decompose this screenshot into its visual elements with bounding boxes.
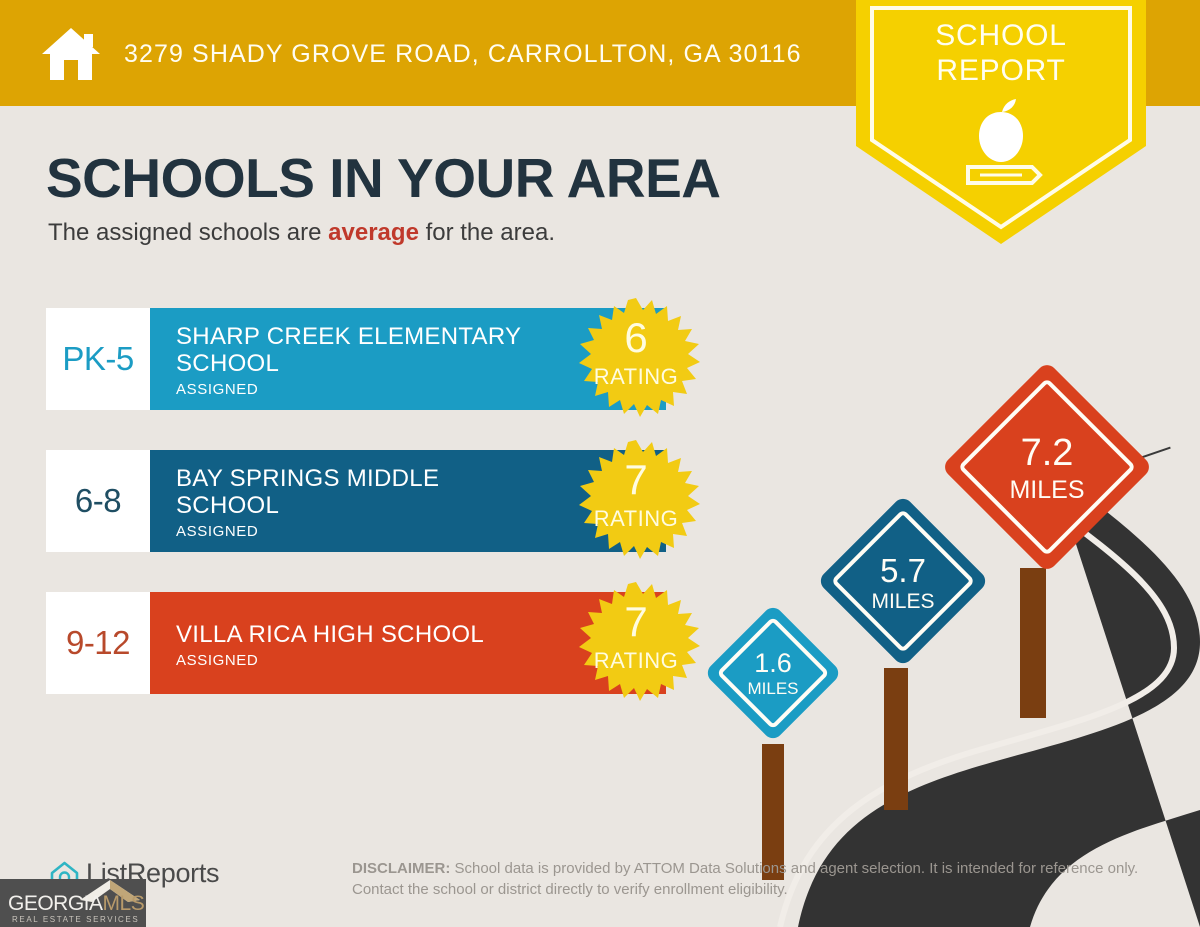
disclaimer-label: DISCLAIMER: [352,860,450,877]
school-body: BAY SPRINGS MIDDLE SCHOOL ASSIGNED 7 RAT… [150,450,666,552]
rating-value: 7 [566,458,706,502]
school-body: VILLA RICA HIGH SCHOOL ASSIGNED 7 RATING [150,592,666,694]
grade-box: PK-5 [46,308,150,410]
rating-value: 7 [566,600,706,644]
mls-name-secondary: MLS [103,892,145,915]
school-report-infographic: 3279 SHADY GROVE ROAD, CARROLLTON, GA 30… [0,0,1200,927]
georgia-mls-logo[interactable]: GEORGIAMLS REAL ESTATE SERVICES [0,879,146,927]
mls-name-primary: GEORGIA [8,892,103,915]
sign-text: 5.7 MILES [842,554,964,612]
sign-distance-value: 5.7 [842,554,964,587]
road-illustration: 7.2 MILES 5.7 MILES 1.6 MILES [700,380,1200,927]
badge-line-2: REPORT [856,53,1146,88]
grade-label: 9-12 [66,624,130,662]
school-report-badge: SCHOOL REPORT [856,0,1146,256]
sign-text: 1.6 MILES [724,650,822,697]
header-content: 3279 SHADY GROVE ROAD, CARROLLTON, GA 30… [40,26,802,82]
mls-tagline: REAL ESTATE SERVICES [12,915,139,924]
sign-distance-value: 7.2 [972,434,1122,472]
disclaimer: DISCLAIMER: School data is provided by A… [352,858,1142,900]
house-icon [40,26,102,82]
page-title: SCHOOLS IN YOUR AREA [46,146,721,210]
grade-box: 6-8 [46,450,150,552]
school-name: SHARP CREEK ELEMENTARY SCHOOL [176,323,546,377]
sign-distance-unit: MILES [972,478,1122,503]
disclaimer-text: School data is provided by ATTOM Data So… [352,860,1138,898]
grade-box: 9-12 [46,592,150,694]
grade-label: PK-5 [62,340,133,378]
school-list: PK-5 SHARP CREEK ELEMENTARY SCHOOL ASSIG… [46,308,666,734]
sign-post [884,668,908,810]
school-row[interactable]: 6-8 BAY SPRINGS MIDDLE SCHOOL ASSIGNED 7… [46,450,666,552]
school-name: VILLA RICA HIGH SCHOOL [176,621,546,648]
rating-label: RATING [566,648,706,674]
rating-badge: 6 RATING [566,296,706,424]
subtitle-before: The assigned schools are [48,219,328,246]
sign-distance-unit: MILES [724,680,822,697]
school-name: BAY SPRINGS MIDDLE SCHOOL [176,465,546,519]
rating-label: RATING [566,506,706,532]
rating-label: RATING [566,364,706,390]
school-status: ASSIGNED [176,523,546,540]
mls-wordmark: GEORGIAMLS [8,892,144,916]
subtitle-highlight: average [328,219,419,246]
property-address: 3279 SHADY GROVE ROAD, CARROLLTON, GA 30… [124,40,802,69]
subtitle-after: for the area. [419,219,555,246]
rating-badge: 7 RATING [566,438,706,566]
school-status: ASSIGNED [176,381,546,398]
rating-value: 6 [566,316,706,360]
page-subtitle: The assigned schools are average for the… [48,219,555,247]
school-body: SHARP CREEK ELEMENTARY SCHOOL ASSIGNED 6… [150,308,666,410]
badge-text: SCHOOL REPORT [856,18,1146,88]
grade-label: 6-8 [75,482,121,520]
sign-distance-unit: MILES [842,591,964,612]
sign-distance-value: 1.6 [724,650,822,677]
badge-line-1: SCHOOL [856,18,1146,53]
rating-badge: 7 RATING [566,580,706,708]
school-row[interactable]: 9-12 VILLA RICA HIGH SCHOOL ASSIGNED 7 R… [46,592,666,694]
sign-post [1020,568,1046,718]
school-row[interactable]: PK-5 SHARP CREEK ELEMENTARY SCHOOL ASSIG… [46,308,666,410]
sign-text: 7.2 MILES [972,434,1122,503]
school-status: ASSIGNED [176,652,546,669]
